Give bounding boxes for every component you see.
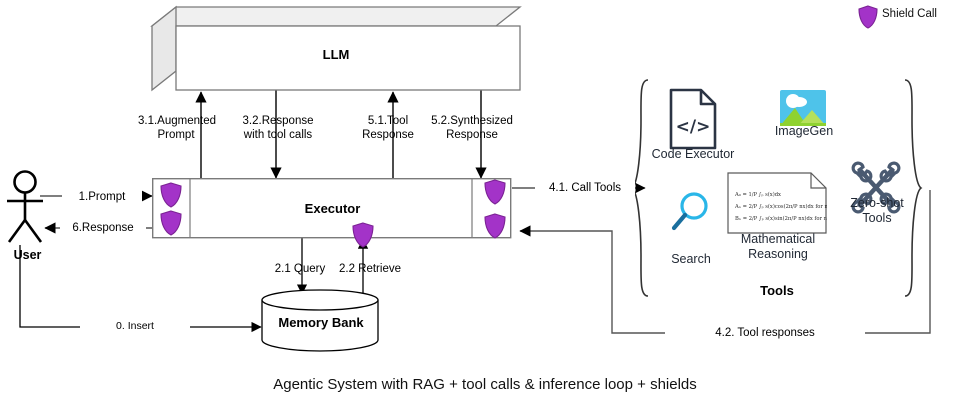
shield-icon xyxy=(484,179,506,205)
tool-label-zero-shot-tools: Zero-shot Tools xyxy=(838,196,916,226)
magnifier-icon xyxy=(670,190,712,234)
tools-brace-right xyxy=(905,80,921,296)
insert-path xyxy=(20,245,261,327)
shield-icon xyxy=(160,182,182,208)
edge-label-response-with-tool-calls: 3.2.Response with tool calls xyxy=(232,114,324,142)
edge-label-call-tools: 4.1. Call Tools xyxy=(535,181,635,195)
diagram-caption: Agentic System with RAG + tool calls & i… xyxy=(0,376,970,393)
edge-label-prompt: 1.Prompt xyxy=(62,190,142,204)
edge-label-synthesized-response: 5.2.Synthesized Response xyxy=(427,114,517,142)
code-document-icon: </> xyxy=(668,88,718,150)
shield-icon xyxy=(858,5,878,29)
shield-icon xyxy=(484,213,506,239)
edge-label-augmented-prompt: 3.1.Augmented Prompt xyxy=(138,114,214,142)
edge-label-response: 6.Response xyxy=(60,221,146,235)
tool-label-imagegen: ImageGen xyxy=(762,124,846,139)
executor-label: Executor xyxy=(190,201,475,216)
diagram-canvas: LLM Executor Memory Bank User 3.1.Augmen… xyxy=(0,0,970,411)
memory-bank-label: Memory Bank xyxy=(260,315,382,330)
tool-label-code-executor: Code Executor xyxy=(645,147,741,162)
edge-label-insert: 0. Insert xyxy=(80,320,190,333)
edge-label-retrieve: 2.2 Retrieve xyxy=(332,262,408,276)
user-label: User xyxy=(0,248,55,262)
svg-text:A₀ = 1/P ∫ₚ s(x)dx: A₀ = 1/P ∫ₚ s(x)dx xyxy=(734,191,781,198)
tool-label-search: Search xyxy=(655,252,727,267)
legend-shield-label: Shield Call xyxy=(882,8,966,22)
llm-label: LLM xyxy=(150,47,522,62)
tools-group-label: Tools xyxy=(722,283,832,298)
user-actor[interactable] xyxy=(4,170,52,245)
edge-label-tool-response: 5.1.Tool Response xyxy=(352,114,424,142)
image-icon xyxy=(780,90,826,126)
svg-text:</>: </> xyxy=(676,117,711,137)
svg-text:Aₙ = 2/P ∫ₚ s(x)cos(2π/P nx)dx: Aₙ = 2/P ∫ₚ s(x)cos(2π/P nx)dx for n ≥ 1 xyxy=(734,203,827,210)
edge-label-query: 2.1 Query xyxy=(265,262,335,276)
tool-label-math-reasoning: Mathematical Reasoning xyxy=(722,232,834,262)
edge-label-tool-responses: 4.2. Tool responses xyxy=(665,326,865,340)
shield-icon xyxy=(160,210,182,236)
formula-document-icon: A₀ = 1/P ∫ₚ s(x)dx Aₙ = 2/P ∫ₚ s(x)cos(2… xyxy=(727,172,827,234)
svg-text:Bₙ = 2/P ∫ₚ s(x)sin(2π/P nx)dx: Bₙ = 2/P ∫ₚ s(x)sin(2π/P nx)dx for n ≥ 1 xyxy=(735,215,827,222)
shield-icon xyxy=(352,222,374,248)
